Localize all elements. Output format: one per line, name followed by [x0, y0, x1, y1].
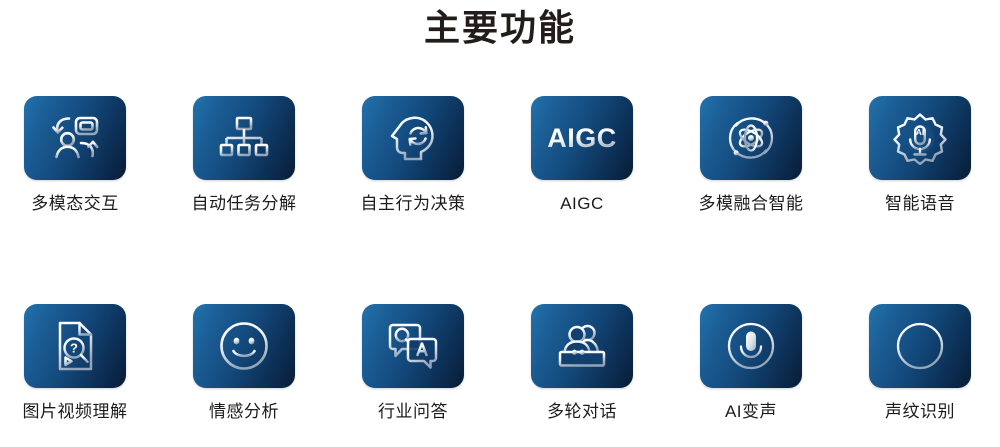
- feature-label: 自主行为决策: [361, 194, 466, 214]
- feature-label: 声纹识别: [885, 402, 955, 422]
- qa-speech-bubbles-icon: [386, 321, 440, 371]
- person-screen-exchange-icon: [47, 112, 103, 164]
- feature-tile[interactable]: [362, 304, 464, 388]
- smiley-face-icon: [218, 320, 270, 372]
- head-refresh-icon: [387, 112, 439, 164]
- feature-item-sentiment-analysis[interactable]: 情感分析: [193, 304, 295, 422]
- feature-tile[interactable]: [700, 304, 802, 388]
- feature-item-autonomous-decision[interactable]: 自主行为决策: [362, 96, 464, 214]
- feature-label: 多模融合智能: [699, 194, 804, 214]
- feature-tile[interactable]: [869, 304, 971, 388]
- feature-tile[interactable]: [531, 304, 633, 388]
- feature-item-industry-qa[interactable]: 行业问答: [362, 304, 464, 422]
- feature-tile[interactable]: [193, 304, 295, 388]
- feature-item-image-video-understanding[interactable]: ? 图片视频理解: [24, 304, 126, 422]
- feature-tile[interactable]: ?: [24, 304, 126, 388]
- atom-orbit-icon: [723, 111, 779, 165]
- feature-tile[interactable]: AIGC: [531, 96, 633, 180]
- feature-item-multimodal-interaction[interactable]: 多模态交互: [24, 96, 126, 214]
- document-magnifier-question-icon: ?: [51, 319, 99, 373]
- feature-label: 行业问答: [378, 402, 448, 422]
- feature-label: AI变声: [725, 402, 777, 422]
- feature-row-2: ? 图片视频理解 情感分析: [0, 304, 1000, 422]
- feature-tile[interactable]: [362, 96, 464, 180]
- svg-text:?: ?: [70, 341, 78, 356]
- feature-label: 智能语音: [885, 194, 955, 214]
- feature-label: 自动任务分解: [192, 194, 297, 214]
- group-conversation-icon: [554, 322, 610, 370]
- feature-item-auto-task-decomposition[interactable]: 自动任务分解: [193, 96, 295, 214]
- feature-tile[interactable]: [193, 96, 295, 180]
- aigc-text-icon: AIGC: [547, 125, 617, 152]
- feature-item-multi-turn-dialogue[interactable]: 多轮对话: [531, 304, 633, 422]
- feature-row-1: 多模态交互 自动任务分解: [0, 96, 1000, 214]
- feature-label: AIGC: [560, 194, 604, 214]
- feature-grid: 多模态交互 自动任务分解: [0, 96, 1000, 422]
- feature-label: 多模态交互: [31, 194, 119, 214]
- feature-item-intelligent-voice[interactable]: AI 智能语音: [869, 96, 971, 214]
- feature-tile[interactable]: [24, 96, 126, 180]
- feature-label: 情感分析: [209, 402, 279, 422]
- feature-item-aigc[interactable]: AIGC AIGC: [531, 96, 633, 214]
- hierarchy-tree-icon: [219, 114, 269, 162]
- feature-tile[interactable]: [700, 96, 802, 180]
- voiceprint-waveform-icon: [894, 320, 946, 372]
- page-title: 主要功能: [0, 4, 1000, 52]
- microphone-circle-icon: [725, 320, 777, 372]
- svg-text:AI: AI: [916, 127, 925, 137]
- feature-item-voiceprint-recognition[interactable]: 声纹识别: [869, 304, 971, 422]
- gear-microphone-ai-icon: AI: [893, 111, 947, 165]
- feature-label: 图片视频理解: [23, 402, 128, 422]
- feature-item-ai-voice-change[interactable]: AI变声: [700, 304, 802, 422]
- feature-label: 多轮对话: [547, 402, 617, 422]
- feature-item-multimodal-fusion[interactable]: 多模融合智能: [700, 96, 802, 214]
- feature-tile[interactable]: AI: [869, 96, 971, 180]
